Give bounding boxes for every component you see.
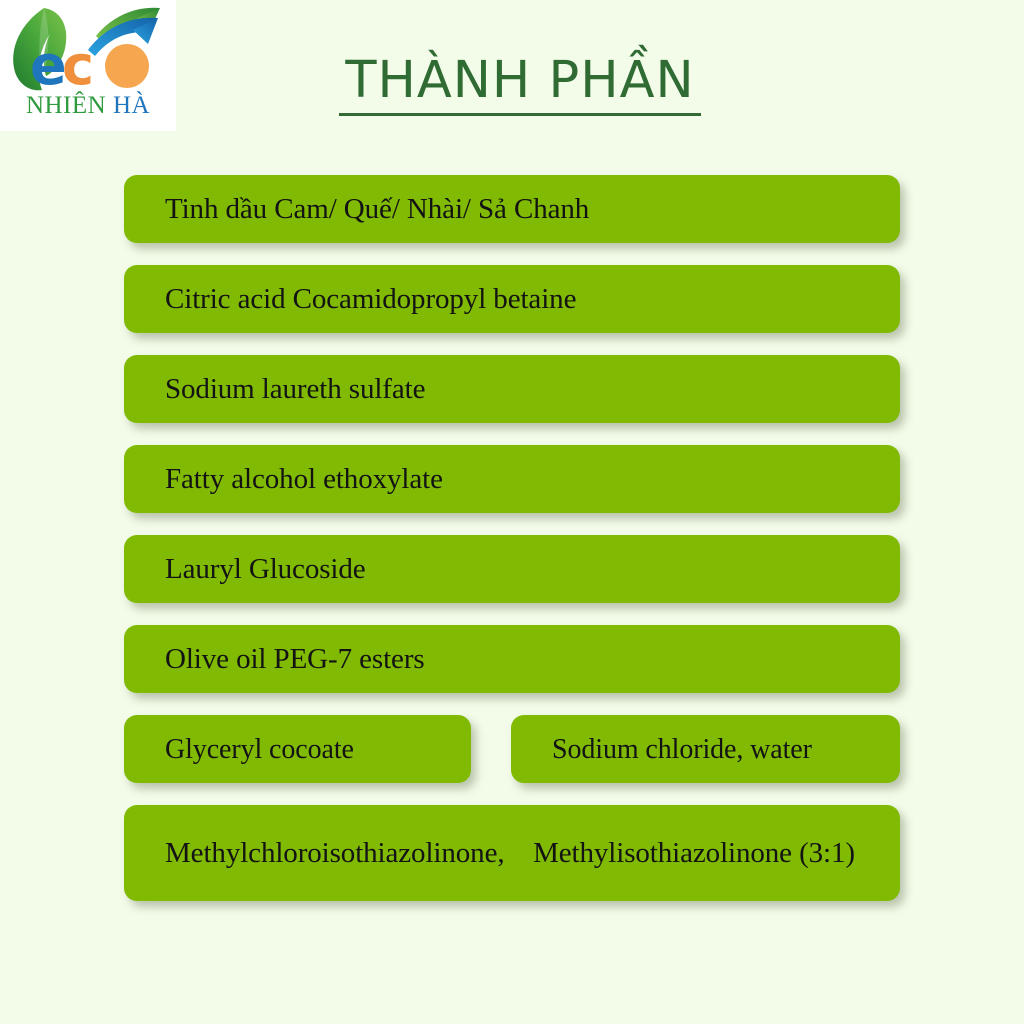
logo-word-ha: HÀ <box>113 92 150 119</box>
eco-lettering: e c <box>30 34 149 97</box>
ingredient-label: Citric acid Cocamidopropyl betaine <box>165 281 576 318</box>
ingredient-pill[interactable]: Glyceryl cocoate <box>124 715 471 783</box>
ingredient-row: Methylchloroisothiazolinone, Methylisoth… <box>124 805 900 901</box>
ingredient-label: Fatty alcohol ethoxylate <box>165 461 443 498</box>
ingredient-row: Lauryl Glucoside <box>124 535 900 603</box>
brand-logo[interactable]: e c NHIÊN HÀ <box>0 0 176 131</box>
page-title: THÀNH PHẦN <box>200 50 840 112</box>
ingredient-pill[interactable]: Sodium laureth sulfate <box>124 355 900 423</box>
ingredient-pill[interactable]: Methylchloroisothiazolinone, Methylisoth… <box>124 805 900 901</box>
ingredient-label: Sodium chloride, water <box>552 731 812 768</box>
logo-word-nhien: NHIÊN <box>26 92 113 119</box>
ingredient-row: Sodium laureth sulfate <box>124 355 900 423</box>
svg-text:c: c <box>62 34 94 97</box>
ingredient-label: Glyceryl cocoate <box>165 731 354 768</box>
ingredient-label: Methylchloroisothiazolinone, Methylisoth… <box>165 835 855 872</box>
ingredient-pill[interactable]: Lauryl Glucoside <box>124 535 900 603</box>
ingredient-row: Tinh dầu Cam/ Quế/ Nhài/ Sả Chanh <box>124 175 900 243</box>
ingredient-list: Tinh dầu Cam/ Quế/ Nhài/ Sả Chanh Citric… <box>124 175 900 923</box>
ingredient-pill[interactable]: Sodium chloride, water <box>511 715 900 783</box>
ingredient-label: Olive oil PEG-7 esters <box>165 641 425 678</box>
ingredient-pill[interactable]: Fatty alcohol ethoxylate <box>124 445 900 513</box>
ingredient-label: Sodium laureth sulfate <box>165 371 425 408</box>
eco-logo-mark: e c <box>0 0 176 100</box>
ingredient-pill[interactable]: Olive oil PEG-7 esters <box>124 625 900 693</box>
ingredient-pill[interactable]: Citric acid Cocamidopropyl betaine <box>124 265 900 333</box>
ingredient-row: Fatty alcohol ethoxylate <box>124 445 900 513</box>
ingredient-label: Lauryl Glucoside <box>165 551 366 588</box>
logo-wordmark: NHIÊN HÀ <box>0 92 176 126</box>
ingredients-infographic: e c NHIÊN HÀ THÀNH PHẦN Tinh dầu Cam/ Qu… <box>0 0 1024 1024</box>
ingredient-row: Citric acid Cocamidopropyl betaine <box>124 265 900 333</box>
ingredient-label: Tinh dầu Cam/ Quế/ Nhài/ Sả Chanh <box>165 191 589 228</box>
title-underline-rule <box>339 113 701 116</box>
ingredient-row-split: Glyceryl cocoate Sodium chloride, water <box>124 715 900 783</box>
page-header: THÀNH PHẦN <box>200 50 840 116</box>
ingredient-row: Olive oil PEG-7 esters <box>124 625 900 693</box>
ingredient-pill[interactable]: Tinh dầu Cam/ Quế/ Nhài/ Sả Chanh <box>124 175 900 243</box>
